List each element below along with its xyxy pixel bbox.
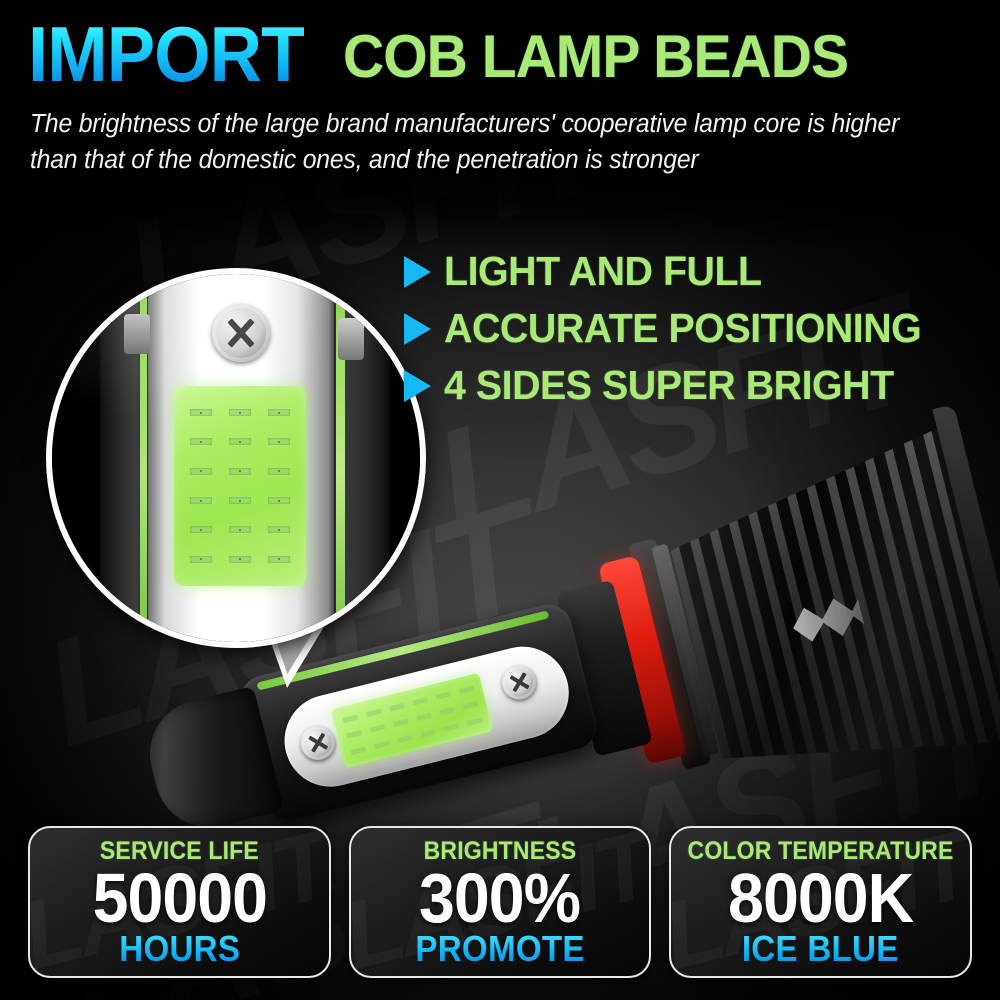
magnifier-lens bbox=[46, 268, 426, 648]
spec-unit: HOURS bbox=[119, 931, 240, 967]
triangle-bullet-icon bbox=[404, 313, 431, 345]
spec-unit: ICE BLUE bbox=[742, 931, 899, 967]
zoom-clip-left bbox=[124, 314, 150, 354]
title-primary: IMPORT bbox=[28, 16, 305, 92]
spec-value: 50000 bbox=[92, 864, 266, 933]
zoom-screw-icon bbox=[212, 304, 270, 362]
spec-value: 8000K bbox=[728, 864, 913, 933]
list-item: 4 SIDES SUPER BRIGHT bbox=[404, 357, 941, 414]
feature-label: 4 SIDES SUPER BRIGHT bbox=[444, 362, 894, 409]
spec-card-service-life: LASFIT SERVICE LIFE 50000 HOURS bbox=[28, 826, 331, 978]
subtitle-text: The brightness of the large brand manufa… bbox=[30, 106, 932, 178]
page-title: IMPORT COB LAMP BEADS bbox=[28, 16, 875, 92]
feature-label: LIGHT AND FULL bbox=[444, 248, 762, 295]
spec-card-row: LASFIT SERVICE LIFE 50000 HOURS LASFIT B… bbox=[28, 826, 972, 978]
spec-card-color-temperature: LASFIT COLOR TEMPERATURE 8000K ICE BLUE bbox=[669, 826, 972, 978]
spec-card-brightness: LASFIT BRIGHTNESS 300% PROMOTE bbox=[349, 826, 652, 978]
magnifier-callout bbox=[46, 268, 446, 688]
list-item: ACCURATE POSITIONING bbox=[404, 300, 941, 357]
triangle-bullet-icon bbox=[404, 370, 431, 402]
triangle-bullet-icon bbox=[404, 256, 431, 288]
feature-list: LIGHT AND FULL ACCURATE POSITIONING 4 SI… bbox=[404, 243, 941, 414]
title-secondary: COB LAMP BEADS bbox=[343, 27, 848, 87]
zoom-cob-chip bbox=[174, 386, 306, 586]
zoom-clip-right bbox=[338, 318, 364, 360]
spec-value: 300% bbox=[419, 864, 580, 933]
spec-unit: PROMOTE bbox=[415, 931, 584, 967]
product-marketing-banner: LASFIT LASFIT LASFIT LASFIT LASFIT bbox=[0, 0, 1000, 1000]
list-item: LIGHT AND FULL bbox=[404, 243, 941, 300]
feature-label: ACCURATE POSITIONING bbox=[444, 305, 921, 352]
